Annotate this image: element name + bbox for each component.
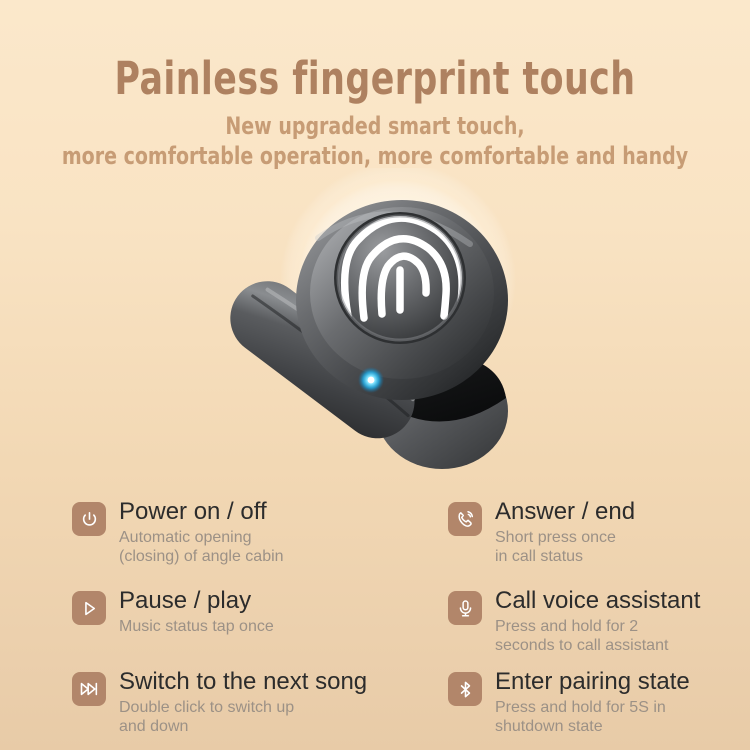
feature-text: Power on / off Automatic opening (closin…: [119, 498, 284, 566]
microphone-icon: [448, 591, 482, 625]
feature-desc-line: in call status: [495, 547, 635, 566]
feature-title: Power on / off: [119, 498, 284, 526]
subtitle-line-2: more comfortable operation, more comfort…: [45, 142, 705, 171]
earbud-illustration: [150, 168, 570, 508]
feature-text: Pause / play Music status tap once: [119, 587, 274, 636]
feature-description: Press and hold for 5S in shutdown state: [495, 698, 690, 736]
feature-text: Call voice assistant Press and hold for …: [495, 587, 700, 655]
feature-desc-line: Double click to switch up: [119, 698, 367, 717]
feature-text: Enter pairing state Press and hold for 5…: [495, 668, 690, 736]
feature-title: Pause / play: [119, 587, 274, 615]
feature-desc-line: and down: [119, 717, 367, 736]
power-icon: [72, 502, 106, 536]
led-indicator: [358, 367, 384, 393]
bluetooth-icon: [448, 672, 482, 706]
feature-desc-line: seconds to call assistant: [495, 636, 700, 655]
feature-description: Double click to switch up and down: [119, 698, 367, 736]
feature-text: Answer / end Short press once in call st…: [495, 498, 635, 566]
product-feature-poster: Painless fingerprint touch New upgraded …: [0, 0, 750, 750]
play-icon: [72, 591, 106, 625]
header-block: Painless fingerprint touch New upgraded …: [0, 52, 750, 171]
feature-desc-line: Automatic opening: [119, 528, 284, 547]
feature-list: Power on / off Automatic opening (closin…: [0, 498, 750, 750]
phone-call-icon: [448, 502, 482, 536]
next-track-icon: [72, 672, 106, 706]
feature-description: Automatic opening (closing) of angle cab…: [119, 528, 284, 566]
feature-title: Enter pairing state: [495, 668, 690, 696]
feature-desc-line: (closing) of angle cabin: [119, 547, 284, 566]
feature-description: Short press once in call status: [495, 528, 635, 566]
feature-desc-line: shutdown state: [495, 717, 690, 736]
page-title: Painless fingerprint touch: [53, 52, 698, 106]
feature-text: Switch to the next song Double click to …: [119, 668, 367, 736]
feature-desc-line: Short press once: [495, 528, 635, 547]
feature-title: Answer / end: [495, 498, 635, 526]
feature-desc-line: Press and hold for 2: [495, 617, 700, 636]
feature-description: Press and hold for 2 seconds to call ass…: [495, 617, 700, 655]
feature-title: Switch to the next song: [119, 668, 367, 696]
subtitle-line-1: New upgraded smart touch,: [45, 112, 705, 141]
feature-description: Music status tap once: [119, 617, 274, 636]
feature-desc-line: Music status tap once: [119, 617, 274, 636]
feature-title: Call voice assistant: [495, 587, 700, 615]
feature-desc-line: Press and hold for 5S in: [495, 698, 690, 717]
